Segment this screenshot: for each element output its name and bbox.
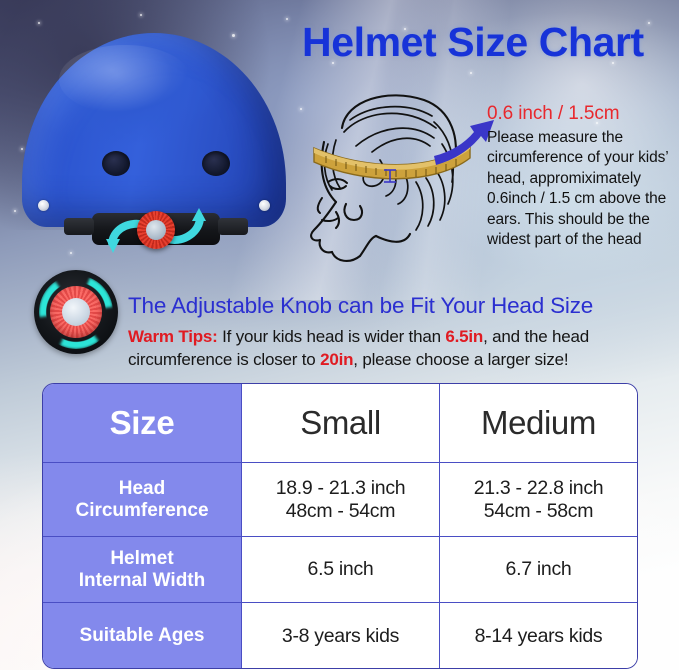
cell-small-internal-width: 6.5 inch: [242, 537, 440, 602]
page-title: Helmet Size Chart: [302, 19, 672, 66]
row-label-line2: Circumference: [75, 500, 208, 522]
helmet-rivet-left-icon: [38, 200, 49, 211]
helmet-illustration: [16, 33, 292, 263]
header-cell-size: Size: [43, 384, 242, 462]
warm-tips: Warm Tips: If your kids head is wider th…: [128, 326, 676, 371]
cell-small-head-circumference: 18.9 - 21.3 inch 48cm - 54cm: [242, 463, 440, 536]
size-chart-table: Size Small Medium Head Circumference 18.…: [42, 383, 638, 669]
helmet-rivet-right-icon: [259, 200, 270, 211]
warm-tips-prefix: Warm Tips:: [128, 327, 218, 346]
knob-headline: The Adjustable Knob can be Fit Your Head…: [128, 293, 593, 319]
helmet-vent-left-icon: [102, 151, 130, 176]
header-cell-small: Small: [242, 384, 440, 462]
table-row: Suitable Ages 3-8 years kids 8-14 years …: [43, 603, 637, 669]
row-label-suitable-ages: Suitable Ages: [43, 603, 242, 669]
cell-line1: 21.3 - 22.8 inch: [474, 477, 604, 500]
measure-callout: 0.6 inch / 1.5cm: [487, 103, 620, 125]
cell-medium-head-circumference: 21.3 - 22.8 inch 54cm - 58cm: [440, 463, 637, 536]
helmet-adjust-knob: [137, 211, 175, 249]
cell-line2: 54cm - 58cm: [474, 500, 604, 523]
table-header-row: Size Small Medium: [43, 384, 637, 463]
helmet-shell: [22, 33, 286, 227]
head-measuring-diagram: [284, 86, 496, 264]
cell-medium-suitable-ages: 8-14 years kids: [440, 603, 637, 669]
adjustable-knob-icon: [34, 270, 118, 354]
warm-tips-value-width: 6.5in: [445, 327, 483, 346]
cell-medium-internal-width: 6.7 inch: [440, 537, 637, 602]
warm-tips-value-circumference: 20in: [320, 350, 353, 369]
helmet-vent-right-icon: [202, 151, 230, 176]
row-label-head-circumference: Head Circumference: [43, 463, 242, 536]
table-row: Helmet Internal Width 6.5 inch 6.7 inch: [43, 537, 637, 603]
knob-dial: [50, 286, 102, 338]
row-label-line1: Head: [75, 478, 208, 500]
cell-small-suitable-ages: 3-8 years kids: [242, 603, 440, 669]
row-label-line2: Internal Width: [79, 570, 206, 592]
warm-tips-part3: , please choose a larger size!: [353, 350, 568, 369]
measure-description: Please measure the circumference of your…: [487, 128, 675, 250]
cell-line2: 48cm - 54cm: [276, 500, 406, 523]
poster-canvas: Helmet Size Chart: [0, 0, 679, 670]
header-cell-medium: Medium: [440, 384, 637, 462]
row-label-helmet-internal-width: Helmet Internal Width: [43, 537, 242, 602]
warm-tips-part1: If your kids head is wider than: [218, 327, 446, 346]
row-label-line1: Helmet: [79, 548, 206, 570]
table-row: Head Circumference 18.9 - 21.3 inch 48cm…: [43, 463, 637, 537]
cell-line1: 18.9 - 21.3 inch: [276, 477, 406, 500]
